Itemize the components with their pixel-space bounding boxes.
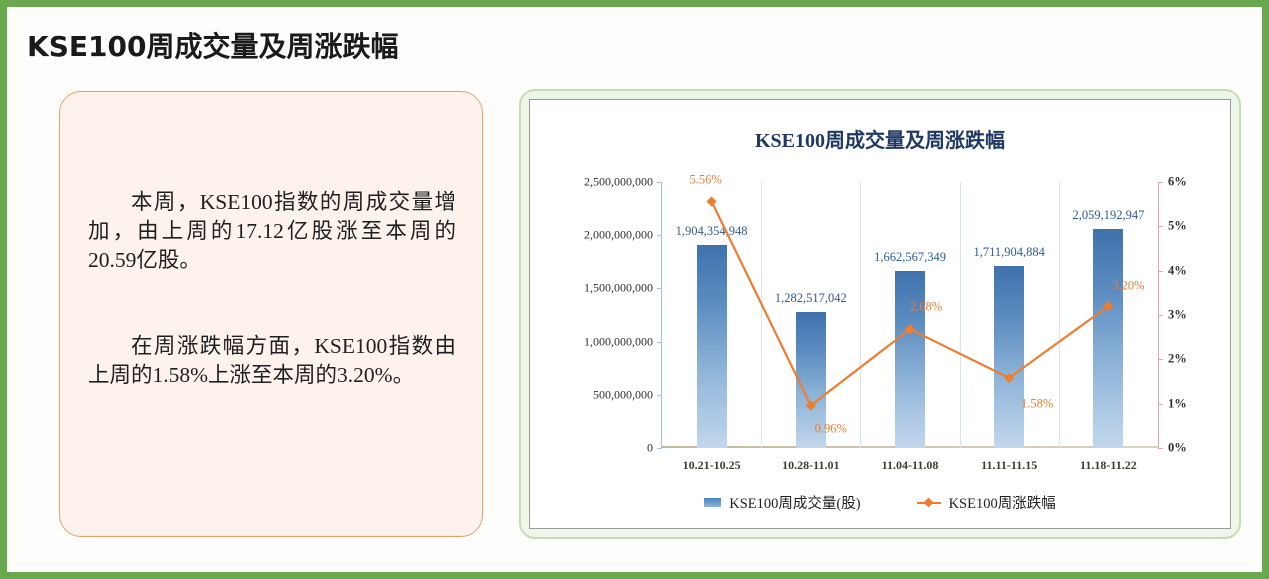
category-label: 11.11-11.15 xyxy=(981,458,1037,473)
right-axis-tick xyxy=(1158,271,1163,272)
category-label: 10.21-10.25 xyxy=(683,458,741,473)
right-axis-tick xyxy=(1158,226,1163,227)
right-axis-tick xyxy=(1158,315,1163,316)
right-axis-tick-label: 6% xyxy=(1168,175,1187,190)
right-axis-tick-label: 0% xyxy=(1168,441,1187,456)
line-value-label: 0.96% xyxy=(815,422,847,437)
right-axis-tick xyxy=(1158,359,1163,360)
left-axis-tick-label: 1,500,000,000 xyxy=(584,281,653,296)
chart-panel: KSE100周成交量及周涨跌幅 0500,000,0001,000,000,00… xyxy=(519,89,1241,539)
line-value-label: 2.68% xyxy=(910,300,942,315)
right-axis-tick-label: 4% xyxy=(1168,263,1187,278)
line-marker xyxy=(707,196,717,206)
category-label: 10.28-11.01 xyxy=(782,458,839,473)
left-axis-tick-label: 1,000,000,000 xyxy=(584,334,653,349)
left-axis-tick-label: 500,000,000 xyxy=(593,387,653,402)
commentary-paragraph-2: 在周涨跌幅方面，KSE100指数由上周的1.58%上涨至本周的3.20%。 xyxy=(88,332,456,390)
change-line-series xyxy=(662,182,1158,448)
legend-label-change: KSE100周涨跌幅 xyxy=(949,492,1056,513)
legend-label-volume: KSE100周成交量(股) xyxy=(729,492,860,513)
left-axis-tick-label: 2,500,000,000 xyxy=(584,175,653,190)
right-axis-tick xyxy=(1158,182,1163,183)
line-value-label: 3.20% xyxy=(1112,279,1144,294)
category-label: 11.18-11.22 xyxy=(1080,458,1137,473)
right-axis-tick-label: 3% xyxy=(1168,308,1187,323)
left-axis-tick-label: 2,000,000,000 xyxy=(584,228,653,243)
chart-title: KSE100周成交量及周涨跌幅 xyxy=(530,124,1230,153)
bar-swatch-icon xyxy=(704,498,721,507)
category-label: 11.04-11.08 xyxy=(882,458,939,473)
plot-area: 0500,000,0001,000,000,0001,500,000,0002,… xyxy=(662,182,1158,448)
commentary-paragraph-1: 本周，KSE100指数的周成交量增加，由上周的17.12亿股涨至本周的20.59… xyxy=(88,188,456,276)
right-axis-tick xyxy=(1158,448,1163,449)
commentary-card: 本周，KSE100指数的周成交量增加，由上周的17.12亿股涨至本周的20.59… xyxy=(59,91,483,537)
slide-root: KSE100周成交量及周涨跌幅 本周，KSE100指数的周成交量增加，由上周的1… xyxy=(0,0,1269,579)
page-title: KSE100周成交量及周涨跌幅 xyxy=(27,25,398,65)
line-swatch-icon xyxy=(917,498,941,508)
right-axis-tick-label: 2% xyxy=(1168,352,1187,367)
line-value-label: 5.56% xyxy=(689,172,721,187)
chart-frame: KSE100周成交量及周涨跌幅 0500,000,0001,000,000,00… xyxy=(529,99,1231,529)
right-axis-tick-label: 5% xyxy=(1168,219,1187,234)
left-axis-tick-label: 0 xyxy=(647,441,653,456)
chart-legend: KSE100周成交量(股) KSE100周涨跌幅 xyxy=(530,492,1230,513)
left-axis-tick xyxy=(657,448,662,449)
right-axis-tick xyxy=(1158,404,1163,405)
line-value-label: 1.58% xyxy=(1021,396,1053,411)
right-axis-tick-label: 1% xyxy=(1168,396,1187,411)
legend-item-change: KSE100周涨跌幅 xyxy=(917,492,1056,513)
legend-item-volume: KSE100周成交量(股) xyxy=(704,492,860,513)
